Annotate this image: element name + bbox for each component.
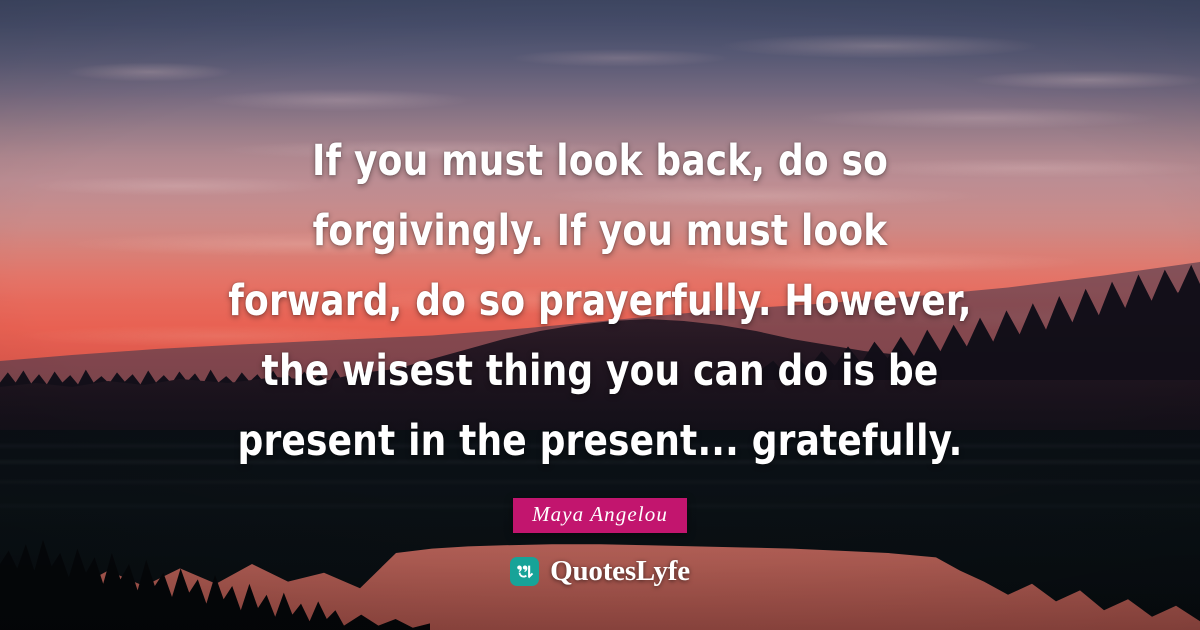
quote-text: If you must look back, do so forgivingly…	[209, 126, 990, 476]
brand-logo[interactable]: QuotesLyfe	[0, 555, 1200, 588]
quote-content: If you must look back, do so forgivingly…	[0, 0, 1200, 630]
quote-mark-icon	[510, 557, 539, 586]
quote-card: If you must look back, do so forgivingly…	[0, 0, 1200, 630]
brand-name: QuotesLyfe	[550, 555, 690, 588]
author-badge: Maya Angelou	[513, 498, 687, 533]
